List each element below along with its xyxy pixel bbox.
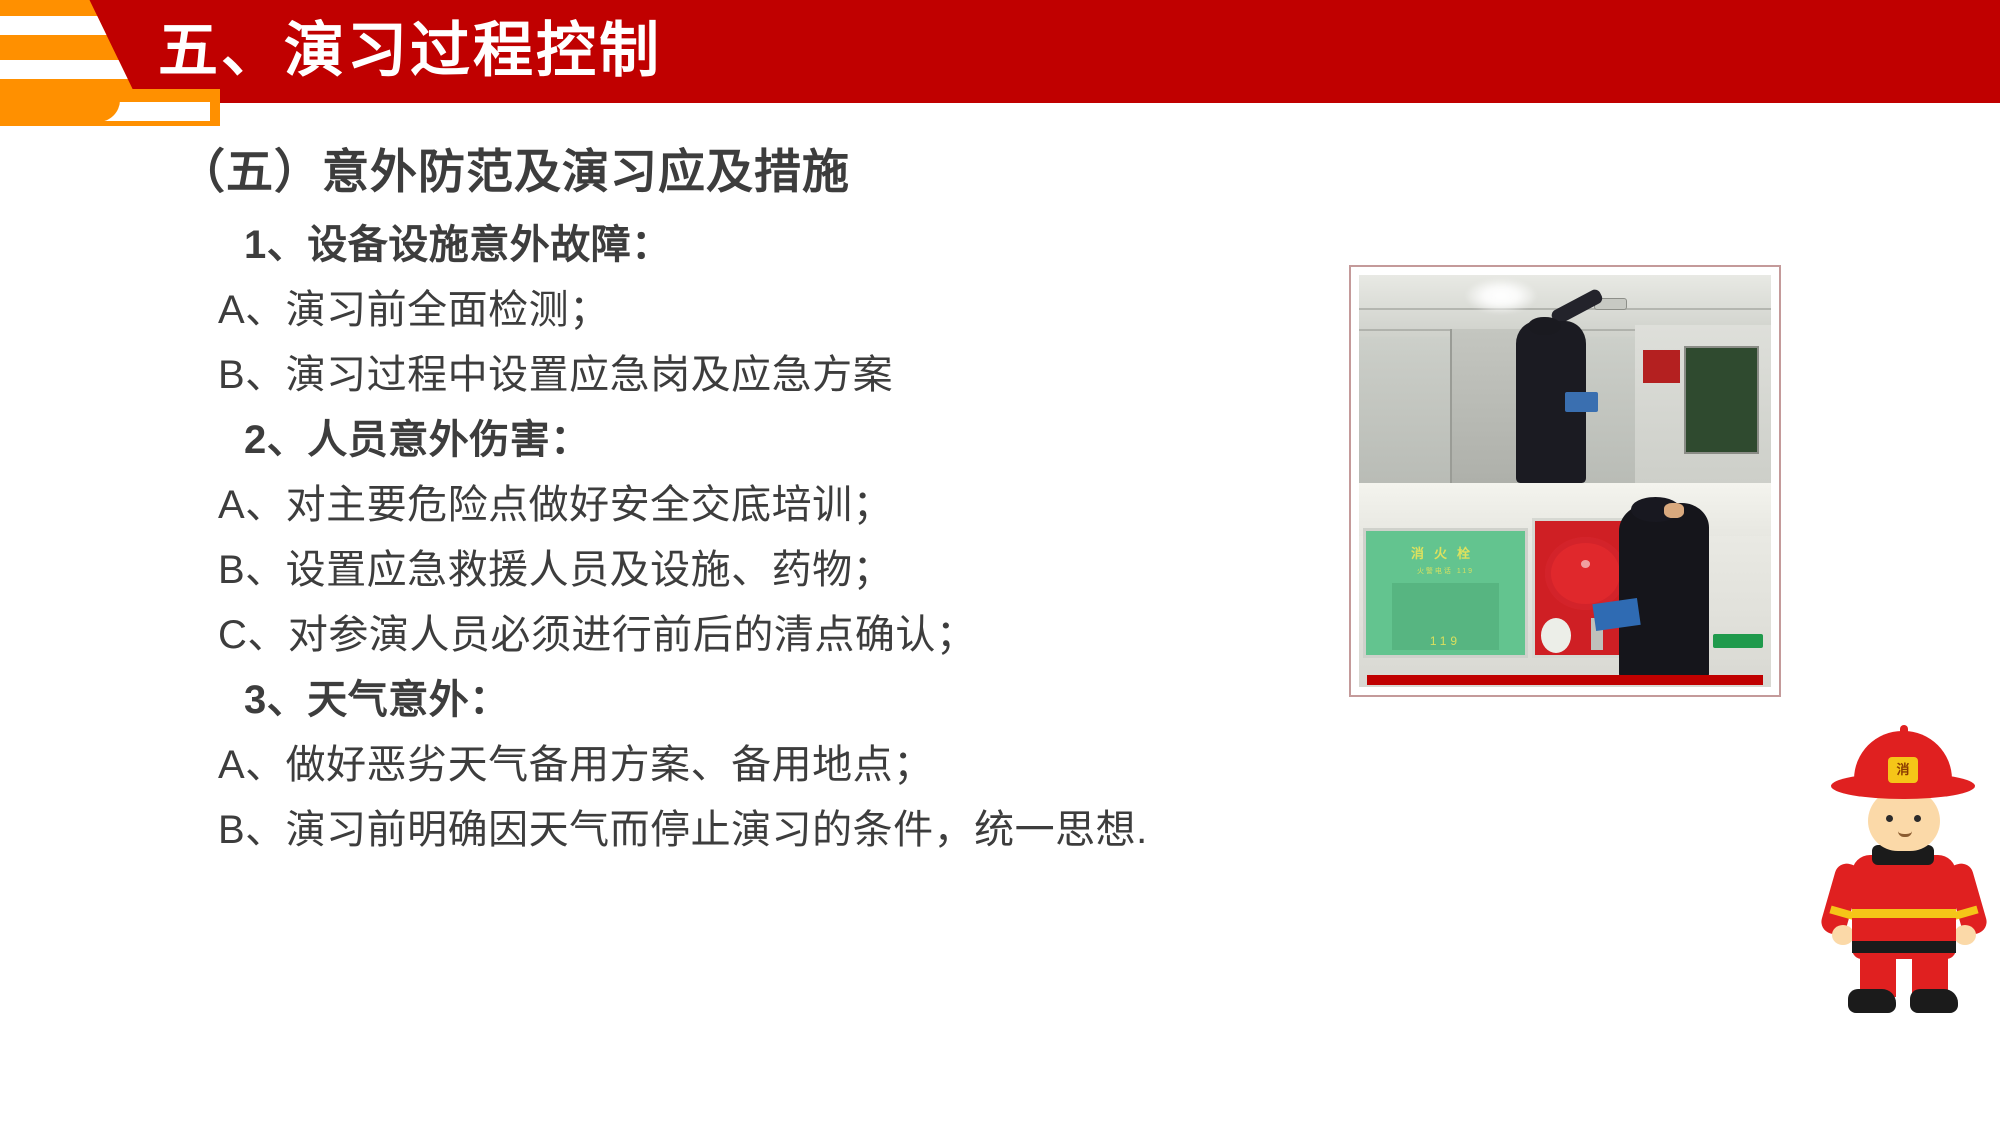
sign-bottom-text: 119 — [1395, 634, 1497, 648]
inspector-body-2 — [1619, 503, 1710, 678]
sign-subtitle-text: 火警电话 119 — [1376, 566, 1516, 576]
inspector-folder — [1565, 392, 1598, 413]
mascot-right-eye — [1914, 815, 1921, 822]
body-line-7: C、对参演人员必须进行前后的清点确认； — [218, 603, 1338, 668]
mascot-right-hand — [1954, 925, 1976, 945]
inspector-face-2 — [1664, 503, 1685, 517]
mascot-torso-stripe — [1852, 909, 1956, 918]
page-title: 五、演习过程控制 — [158, 12, 662, 90]
body-line-9: A、做好恶劣天气备用方案、备用地点； — [218, 733, 1338, 798]
slide-root: 五、演习过程控制 （五）意外防范及演习应及措施 1、设备设施意外故障： A、演习… — [0, 0, 2000, 1125]
mascot-left-eye — [1886, 815, 1893, 822]
mascot-right-boot — [1910, 989, 1958, 1013]
sign-title-text: 消火栓 — [1376, 543, 1516, 562]
body-line-4: 2、人员意外伤害： — [218, 408, 1338, 473]
mascot-mouth — [1898, 831, 1912, 837]
ceiling-light-glow — [1466, 279, 1536, 313]
photo-frame: 消火栓 火警电话 119 119 — [1349, 265, 1781, 697]
section-subtitle: （五）意外防范及演习应及措施 — [178, 133, 850, 202]
fire-hydrant-sign-board: 消火栓 火警电话 119 119 — [1363, 528, 1528, 659]
body-line-6: B、设置应急救援人员及设施、药物； — [218, 538, 1338, 603]
hallway-detector-inspection-photo — [1359, 275, 1771, 483]
photo-bottom-red-strip — [1367, 675, 1763, 685]
green-cabinet — [1684, 346, 1758, 454]
mascot-helmet-crest — [1900, 725, 1908, 743]
fire-hose-cabinet-inspection-photo: 消火栓 火警电话 119 119 — [1359, 483, 1771, 687]
inspector-head — [1528, 317, 1561, 336]
mascot-belt — [1852, 941, 1956, 953]
cone-base — [0, 86, 120, 122]
content-area: （五）意外防范及演习应及措施 1、设备设施意外故障： A、演习前全面检测； B、… — [0, 103, 1340, 1125]
hose-reel-hub — [1581, 560, 1591, 568]
body-line-3: B、演习过程中设置应急岗及应急方案 — [218, 343, 1338, 408]
exit-sign-icon — [1713, 634, 1762, 648]
red-sign — [1643, 350, 1680, 383]
mascot-left-hand — [1832, 925, 1854, 945]
firefighter-mascot: 消 — [1818, 713, 1988, 1013]
body-line-10: B、演习前明确因天气而停止演习的条件，统一思想. — [218, 798, 1338, 863]
body-line-8: 3、天气意外： — [218, 668, 1338, 733]
body-line-1: 1、设备设施意外故障： — [218, 213, 1338, 278]
hose-reel-icon — [1545, 537, 1626, 610]
mascot-helmet-badge: 消 — [1888, 757, 1918, 783]
photo-stack: 消火栓 火警电话 119 119 — [1359, 275, 1771, 687]
body-line-2: A、演习前全面检测； — [218, 278, 1338, 343]
white-hose-roll — [1541, 618, 1571, 653]
body-text-list: 1、设备设施意外故障： A、演习前全面检测； B、演习过程中设置应急岗及应急方案… — [218, 213, 1338, 863]
mascot-left-boot — [1848, 989, 1896, 1013]
body-line-5: A、对主要危险点做好安全交底培训； — [218, 473, 1338, 538]
